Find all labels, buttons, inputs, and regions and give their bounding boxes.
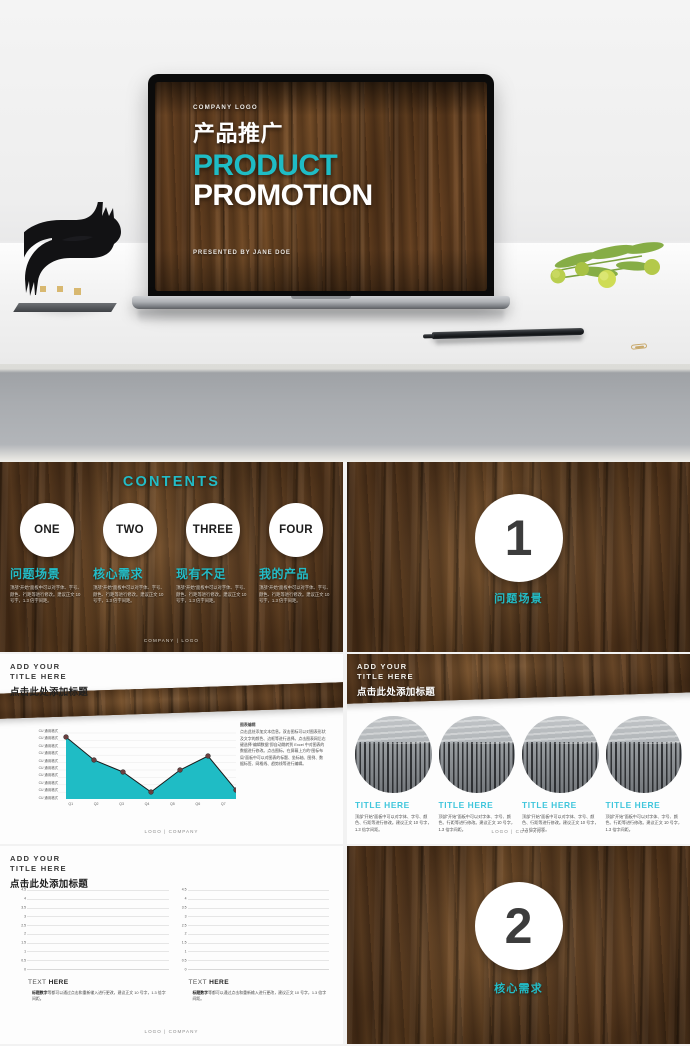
contents-badge-one[interactable]: ONE (20, 503, 74, 557)
contents-title: CONTENTS (0, 474, 343, 490)
contents-column[interactable]: TWO 核心需求 顶部“开始”面板中可以对字体、字号、颜色、行距等进行修改。建议… (93, 503, 167, 605)
y-tick: 4 (185, 897, 187, 900)
contents-columns: ONE 问题场景 顶部“开始”面板中可以对字体、字号、颜色、行距等进行修改。建议… (0, 490, 343, 605)
photo-row: TITLE HERE 顶部“开始”面板中可以对字体、字号、颜色、行距等进行修改。… (347, 716, 690, 833)
chart-note-body: 点击此处添加文本信息。双击图标可以对图表形状及文字的颜色、边框等进行选择。点击图… (240, 729, 326, 766)
y-tick: 2 (24, 933, 26, 936)
y-tick: CU 通用格式 (26, 752, 58, 755)
y-tick: 1.5 (21, 942, 26, 945)
bar-block-body: 标题数字等都可以通过点击和重新输入进行更改，建议正文 10 号字，1.3 倍字间… (14, 990, 169, 1003)
contents-badge-four[interactable]: FOUR (269, 503, 323, 557)
photo-title: TITLE HERE (355, 800, 432, 810)
y-tick: CU 通用格式 (26, 760, 58, 763)
y-tick: CU 通用格式 (26, 789, 58, 792)
slide-section-one[interactable]: 1 问题场景 (347, 462, 690, 652)
y-tick: 0 (24, 968, 26, 971)
horse-sculpture (16, 178, 136, 328)
y-tick: 3.5 (21, 906, 26, 909)
y-tick: 3 (24, 915, 26, 918)
section-number-circle: 1 (475, 494, 563, 582)
slide-header: ADD YOUR TITLE HERE 点击此处添加标题 (10, 854, 88, 890)
caption-bold: HERE (49, 979, 69, 986)
laptop-base (132, 296, 510, 309)
bar-chart-row: 0 0.5 1 1.5 2 2.5 3 3.5 4 4.5 (0, 890, 343, 1003)
y-tick: 2.5 (182, 924, 187, 927)
x-tick: Q7 (211, 802, 236, 806)
chart-note-title: 图表编辑 (240, 722, 326, 728)
body-text: 等都可以通过点击和重新输入进行更改，建议正文 10 号字，1.3 倍字间距。 (32, 990, 166, 1001)
contents-heading: 问题场景 (10, 565, 84, 582)
contents-heading: 现有不足 (176, 565, 250, 582)
x-tick: Q3 (109, 802, 134, 806)
bar-chart-y-axis: 0 0.5 1 1.5 2 2.5 3 3.5 4 4.5 (175, 890, 188, 970)
y-tick: CU 通用格式 (26, 745, 58, 748)
x-tick: Q4 (134, 802, 159, 806)
x-tick: Q1 (58, 802, 83, 806)
contents-heading: 我的产品 (259, 565, 333, 582)
hero-title-en-line1: PRODUCT (193, 152, 473, 181)
contents-body: 顶部“开始”面板中可以对字体、字号、颜色、行距等进行修改。建议正文 10 号字，… (176, 585, 250, 605)
bar-block-caption: TEXT HERE (14, 979, 169, 986)
photo-item[interactable]: TITLE HERE 顶部“开始”面板中可以对字体、字号、颜色、行距等进行修改。… (355, 716, 432, 833)
slide-footer: LOGO | COMPANY (0, 1029, 343, 1034)
caption-bold: HERE (209, 979, 229, 986)
slide-section-two[interactable]: 2 核心需求 (347, 846, 690, 1044)
line-chart: CU 通用格式 CU 通用格式 CU 通用格式 CU 通用格式 CU 通用格式 … (0, 730, 343, 822)
slide-header: ADD YOUR TITLE HERE 点击此处添加标题 (10, 662, 88, 698)
pier-photo-icon (522, 716, 599, 793)
laptop-lid: COMPANY LOGO 产品推广 PRODUCT PROMOTION PRES… (148, 74, 494, 300)
y-tick: 4.5 (182, 888, 187, 891)
slide-title-en: ADD YOUR TITLE HERE (357, 662, 435, 683)
slide-line-chart[interactable]: ADD YOUR TITLE HERE 点击此处添加标题 CU 通用格式 CU … (0, 654, 343, 844)
x-tick: Q5 (160, 802, 185, 806)
slide-title-cn: 点击此处添加标题 (10, 684, 88, 698)
bar-chart-bars (188, 890, 330, 969)
slide-title-en: ADD YOUR TITLE HERE (10, 854, 88, 875)
y-tick: 0.5 (21, 959, 26, 962)
bar-chart-bars (27, 890, 169, 969)
photo-item[interactable]: TITLE HERE 顶部“开始”面板中可以对字体、字号、颜色、行距等进行修改。… (522, 716, 599, 833)
pier-photo-icon (439, 716, 516, 793)
y-tick: 2 (185, 933, 187, 936)
section-number: 2 (505, 901, 533, 951)
section-label: 问题场景 (347, 590, 690, 606)
hero-mockup: COMPANY LOGO 产品推广 PRODUCT PROMOTION PRES… (0, 0, 690, 364)
contents-column[interactable]: ONE 问题场景 顶部“开始”面板中可以对字体、字号、颜色、行距等进行修改。建议… (10, 503, 84, 605)
y-tick: 1 (24, 951, 26, 954)
slide-title-cn: 点击此处添加标题 (10, 876, 88, 890)
y-tick: 2.5 (21, 924, 26, 927)
contents-heading: 核心需求 (93, 565, 167, 582)
caption-prefix: TEXT (28, 979, 49, 986)
hero-title-cn: 产品推广 (193, 123, 473, 145)
slide-footer: LOGO | COMPANY (347, 829, 690, 834)
contents-body: 顶部“开始”面板中可以对字体、字号、颜色、行距等进行修改。建议正文 10 号字，… (10, 585, 84, 605)
contents-column[interactable]: FOUR 我的产品 顶部“开始”面板中可以对字体、字号、颜色、行距等进行修改。建… (259, 503, 333, 605)
horse-icon (24, 202, 128, 306)
contents-footer: COMPANY | LOGO (0, 638, 343, 643)
hero-title-en-line2: PROMOTION (193, 181, 389, 211)
y-tick: 0 (185, 968, 187, 971)
y-tick: CU 通用格式 (26, 797, 58, 800)
bar-chart-plot (27, 890, 169, 970)
contents-badge-two[interactable]: TWO (103, 503, 157, 557)
photo-title: TITLE HERE (439, 800, 516, 810)
slide-photos[interactable]: ADD YOUR TITLE HERE 点击此处添加标题 TITLE HERE … (347, 654, 690, 844)
bar-chart-right: 0 0.5 1 1.5 2 2.5 3 3.5 4 4.5 (175, 890, 330, 972)
section-number: 1 (505, 513, 533, 563)
contents-body: 顶部“开始”面板中可以对字体、字号、颜色、行距等进行修改。建议正文 10 号字，… (93, 585, 167, 605)
line-chart-plot (58, 730, 236, 800)
olive-branch-icon (546, 238, 686, 296)
hero-byline: PRESENTED BY JANE DOE (193, 250, 291, 256)
slide-title-cn: 点击此处添加标题 (357, 684, 435, 698)
y-tick: 0.5 (182, 959, 187, 962)
slide-grid: CONTENTS ONE 问题场景 顶部“开始”面板中可以对字体、字号、颜色、行… (0, 462, 690, 1044)
contents-badge-label: ONE (34, 524, 60, 536)
line-chart-y-axis: CU 通用格式 CU 通用格式 CU 通用格式 CU 通用格式 CU 通用格式 … (26, 730, 58, 800)
separator-band (0, 364, 690, 462)
chart-note: 图表编辑 点击此处添加文本信息。双击图标可以对图表形状及文字的颜色、边框等进行选… (240, 722, 326, 767)
y-tick: CU 通用格式 (26, 774, 58, 777)
caption-prefix: TEXT (189, 979, 210, 986)
bar-chart-plot (188, 890, 330, 970)
contents-badge-three[interactable]: THREE (186, 503, 240, 557)
photo-title: TITLE HERE (522, 800, 599, 810)
bar-chart-left: 0 0.5 1 1.5 2 2.5 3 3.5 4 4.5 (14, 890, 169, 972)
y-tick: 4 (24, 897, 26, 900)
slide-bar-charts[interactable]: ADD YOUR TITLE HERE 点击此处添加标题 0 0.5 1 1.5… (0, 846, 343, 1044)
section-number-circle: 2 (475, 882, 563, 970)
slide-header: ADD YOUR TITLE HERE 点击此处添加标题 (357, 662, 435, 698)
line-chart-x-axis: Q1 Q2 Q3 Q4 Q5 Q6 Q7 (58, 802, 236, 806)
y-tick: 3.5 (182, 906, 187, 909)
company-logo-text: COMPANY LOGO (193, 104, 473, 111)
y-tick: CU 通用格式 (26, 730, 58, 733)
laptop-base-reflection (138, 310, 504, 324)
x-tick: Q2 (83, 802, 108, 806)
laptop-screen: COMPANY LOGO 产品推广 PRODUCT PROMOTION PRES… (155, 82, 487, 291)
y-tick: 1.5 (182, 942, 187, 945)
bar-chart-block: 0 0.5 1 1.5 2 2.5 3 3.5 4 4.5 (14, 890, 169, 1003)
bar-chart-block: 0 0.5 1 1.5 2 2.5 3 3.5 4 4.5 (175, 890, 330, 1003)
y-tick: CU 通用格式 (26, 767, 58, 770)
bar-block-body: 标题数字等都可以通过点击和重新输入进行更改，建议正文 10 号字，1.3 倍字间… (175, 990, 330, 1003)
slide-title-en: ADD YOUR TITLE HERE (10, 662, 88, 683)
contents-badge-label: FOUR (279, 524, 313, 536)
photo-item[interactable]: TITLE HERE 顶部“开始”面板中可以对字体、字号、颜色、行距等进行修改。… (606, 716, 683, 833)
y-tick: CU 通用格式 (26, 782, 58, 785)
body-bold: 标题数字 (32, 990, 48, 995)
y-tick: 1 (185, 951, 187, 954)
contents-badge-label: TWO (116, 524, 144, 536)
contents-body: 顶部“开始”面板中可以对字体、字号、颜色、行距等进行修改。建议正文 10 号字，… (259, 585, 333, 605)
slide-footer: LOGO | COMPANY (0, 829, 343, 834)
slide-contents[interactable]: CONTENTS ONE 问题场景 顶部“开始”面板中可以对字体、字号、颜色、行… (0, 462, 343, 652)
section-label: 核心需求 (347, 980, 690, 996)
bar-chart-y-axis: 0 0.5 1 1.5 2 2.5 3 3.5 4 4.5 (14, 890, 27, 970)
contents-badge-label: THREE (193, 524, 233, 536)
photo-title: TITLE HERE (606, 800, 683, 810)
photo-item[interactable]: TITLE HERE 顶部“开始”面板中可以对字体、字号、颜色、行距等进行修改。… (439, 716, 516, 833)
laptop-mockup: COMPANY LOGO 产品推广 PRODUCT PROMOTION PRES… (148, 74, 494, 324)
body-text: 等都可以通过点击和重新输入进行更改，建议正文 10 号字，1.3 倍字间距。 (193, 990, 327, 1001)
x-tick: Q6 (185, 802, 210, 806)
contents-column[interactable]: THREE 现有不足 顶部“开始”面板中可以对字体、字号、颜色、行距等进行修改。… (176, 503, 250, 605)
bar-block-caption: TEXT HERE (175, 979, 330, 986)
y-tick: 3 (185, 915, 187, 918)
body-bold: 标题数字 (193, 990, 209, 995)
pier-photo-icon (355, 716, 432, 793)
pier-photo-icon (606, 716, 683, 793)
y-tick: CU 通用格式 (26, 737, 58, 740)
